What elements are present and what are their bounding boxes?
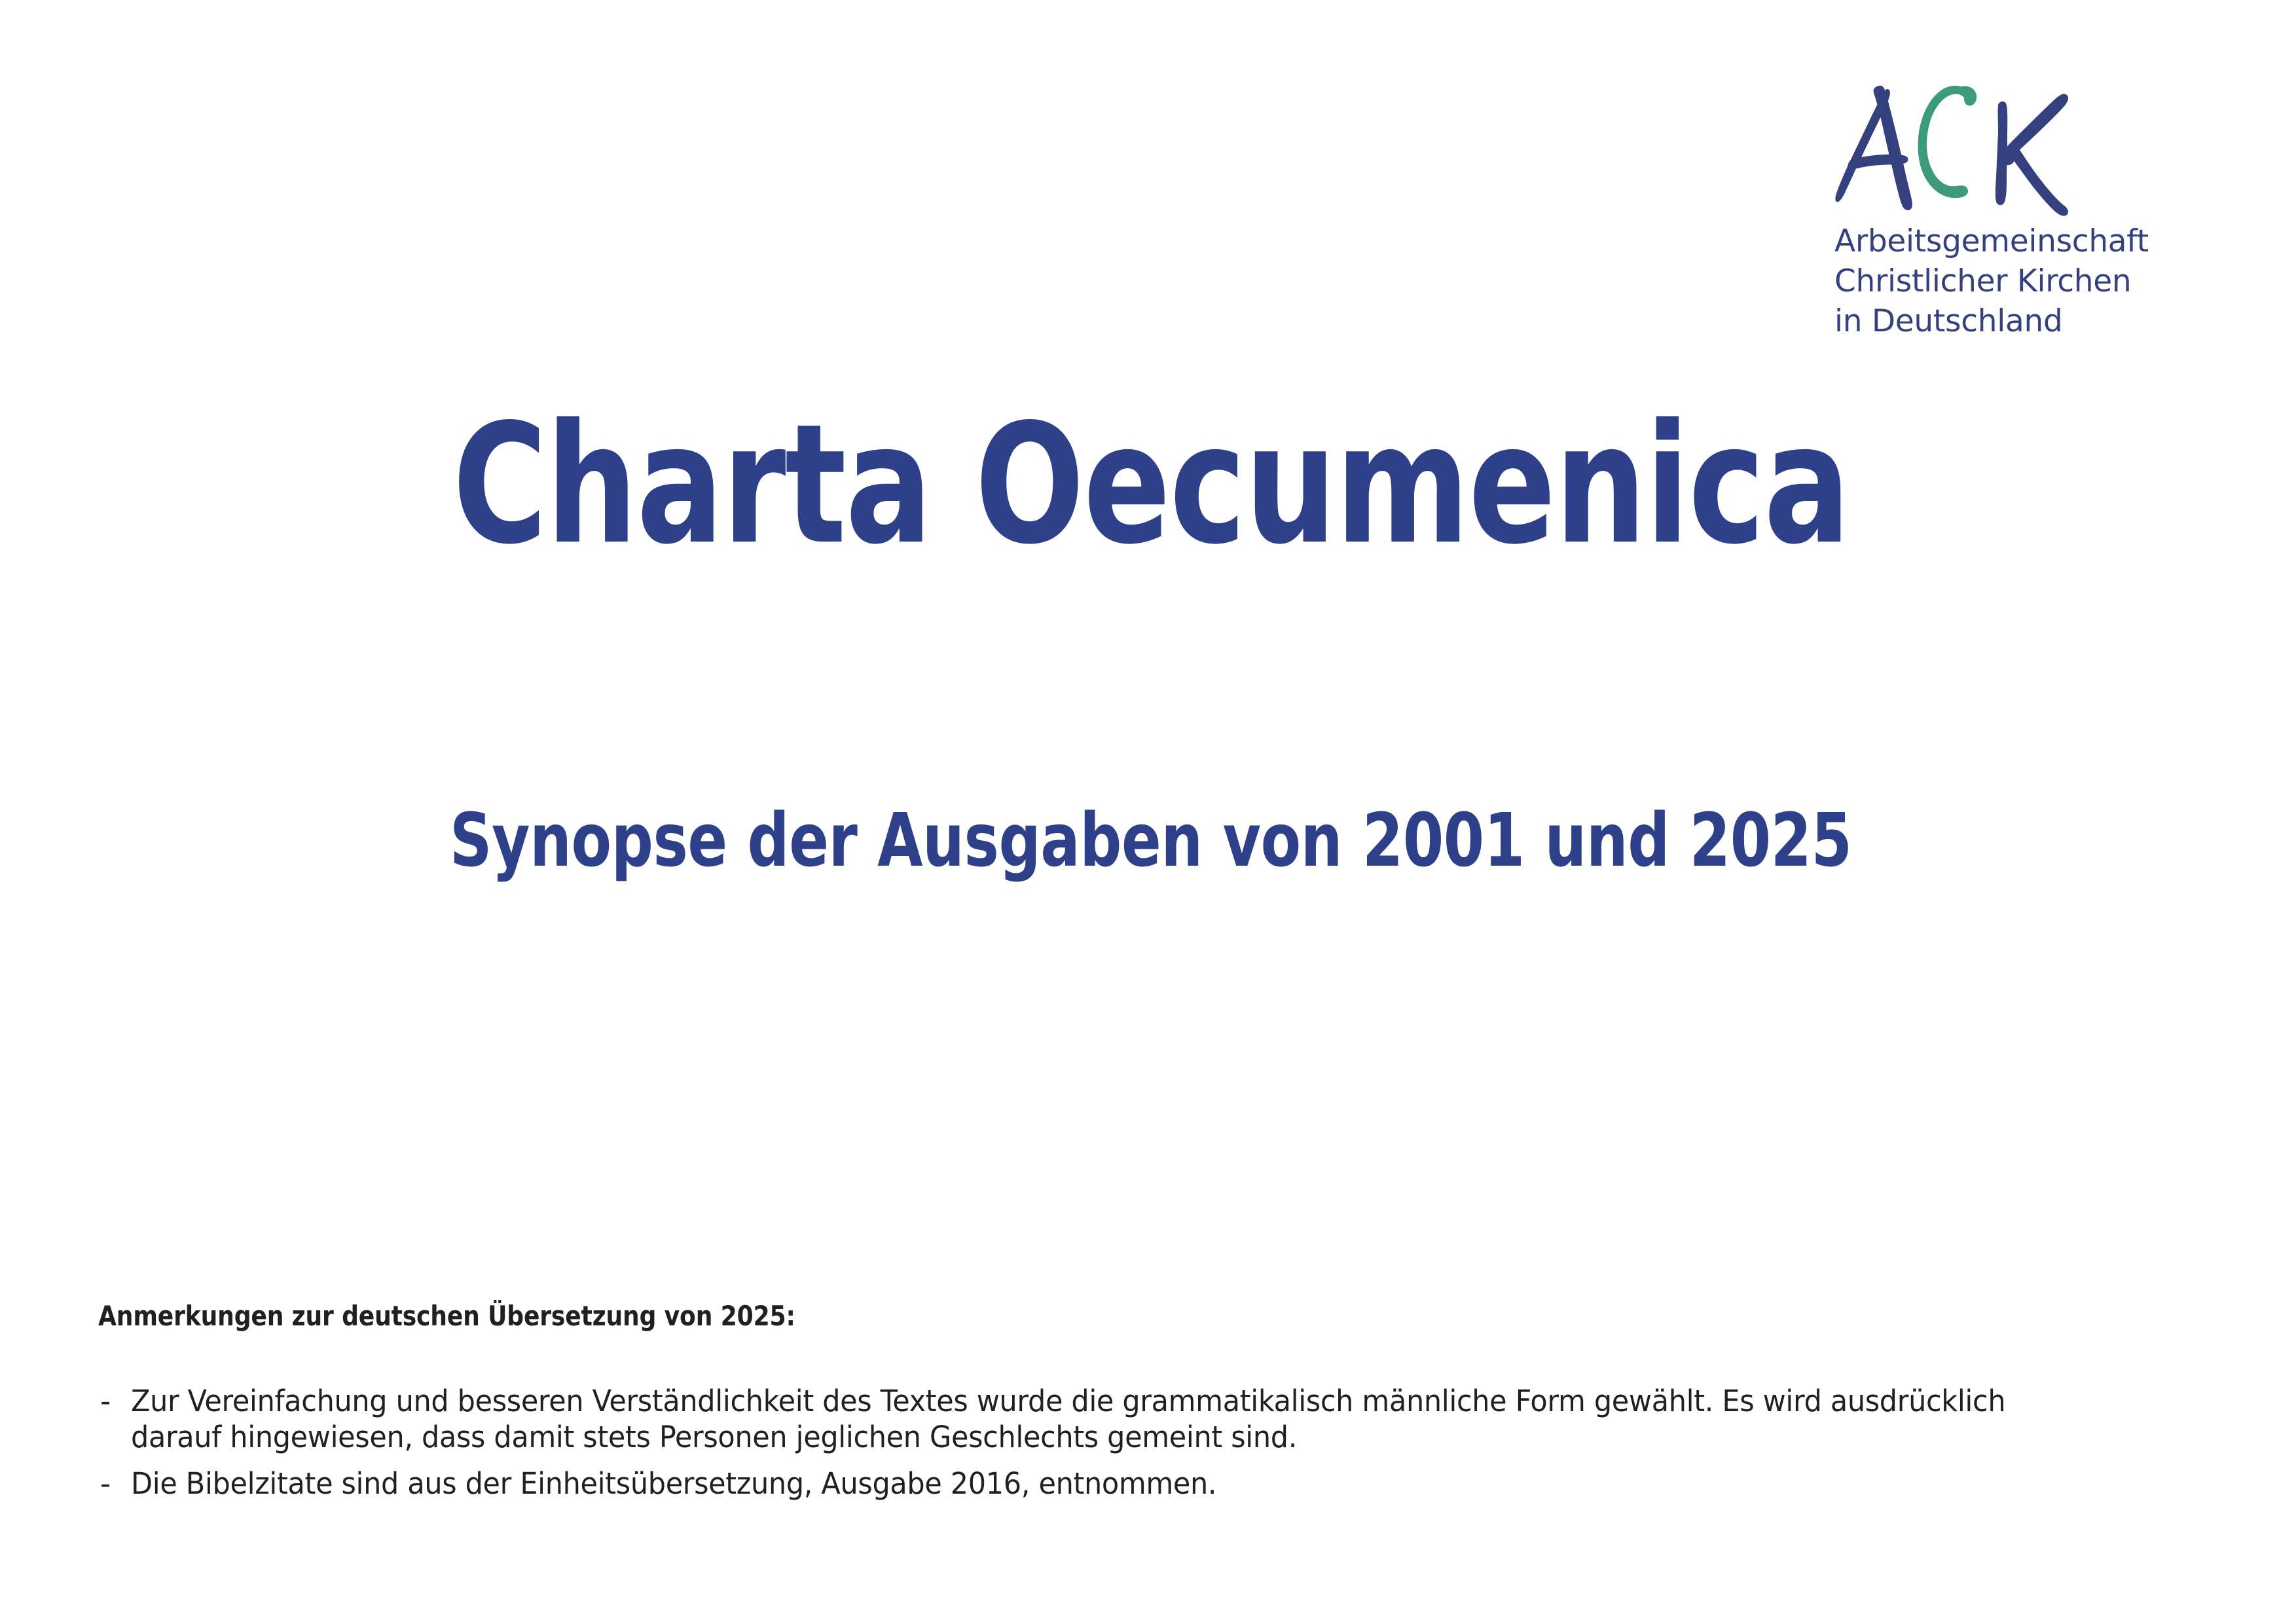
ack-letter-a-glyph (1835, 86, 1912, 210)
note-text: Die Bibelzitate sind aus der Einheitsübe… (131, 1466, 2100, 1502)
page-title: Charta Oecumenica (256, 403, 2047, 568)
bullet-dash-icon: - (100, 1384, 111, 1420)
page-canvas: Arbeitsgemeinschaft Christlicher Kirchen… (0, 0, 2296, 1624)
page-subtitle: Synopse der Ausgaben von 2001 und 2025 (232, 804, 2069, 877)
notes-heading: Anmerkungen zur deutschen Übersetzung vo… (98, 1300, 1900, 1333)
notes-list: - Zur Vereinfachung und besseren Verstän… (98, 1384, 2193, 1502)
ack-letter-c-glyph (1918, 86, 1977, 198)
ack-logo: Arbeitsgemeinschaft Christlicher Kirchen… (1832, 79, 2126, 341)
list-item: - Die Bibelzitate sind aus der Einheitsü… (98, 1466, 2193, 1502)
ack-wordmark-line-1: Arbeitsgemeinschaft (1834, 221, 2126, 261)
ack-monogram-icon (1832, 79, 2113, 219)
ack-wordmark-line-3: in Deutschland (1834, 301, 2126, 341)
translation-notes: Anmerkungen zur deutschen Übersetzung vo… (98, 1300, 2193, 1513)
bullet-dash-icon: - (100, 1466, 111, 1502)
ack-wordmark: Arbeitsgemeinschaft Christlicher Kirchen… (1834, 221, 2126, 341)
ack-wordmark-line-2: Christlicher Kirchen (1834, 261, 2126, 301)
note-text: Zur Vereinfachung und besseren Verständl… (131, 1384, 2100, 1456)
list-item: - Zur Vereinfachung und besseren Verstän… (98, 1384, 2193, 1456)
ack-letter-k-glyph (1995, 94, 2068, 216)
